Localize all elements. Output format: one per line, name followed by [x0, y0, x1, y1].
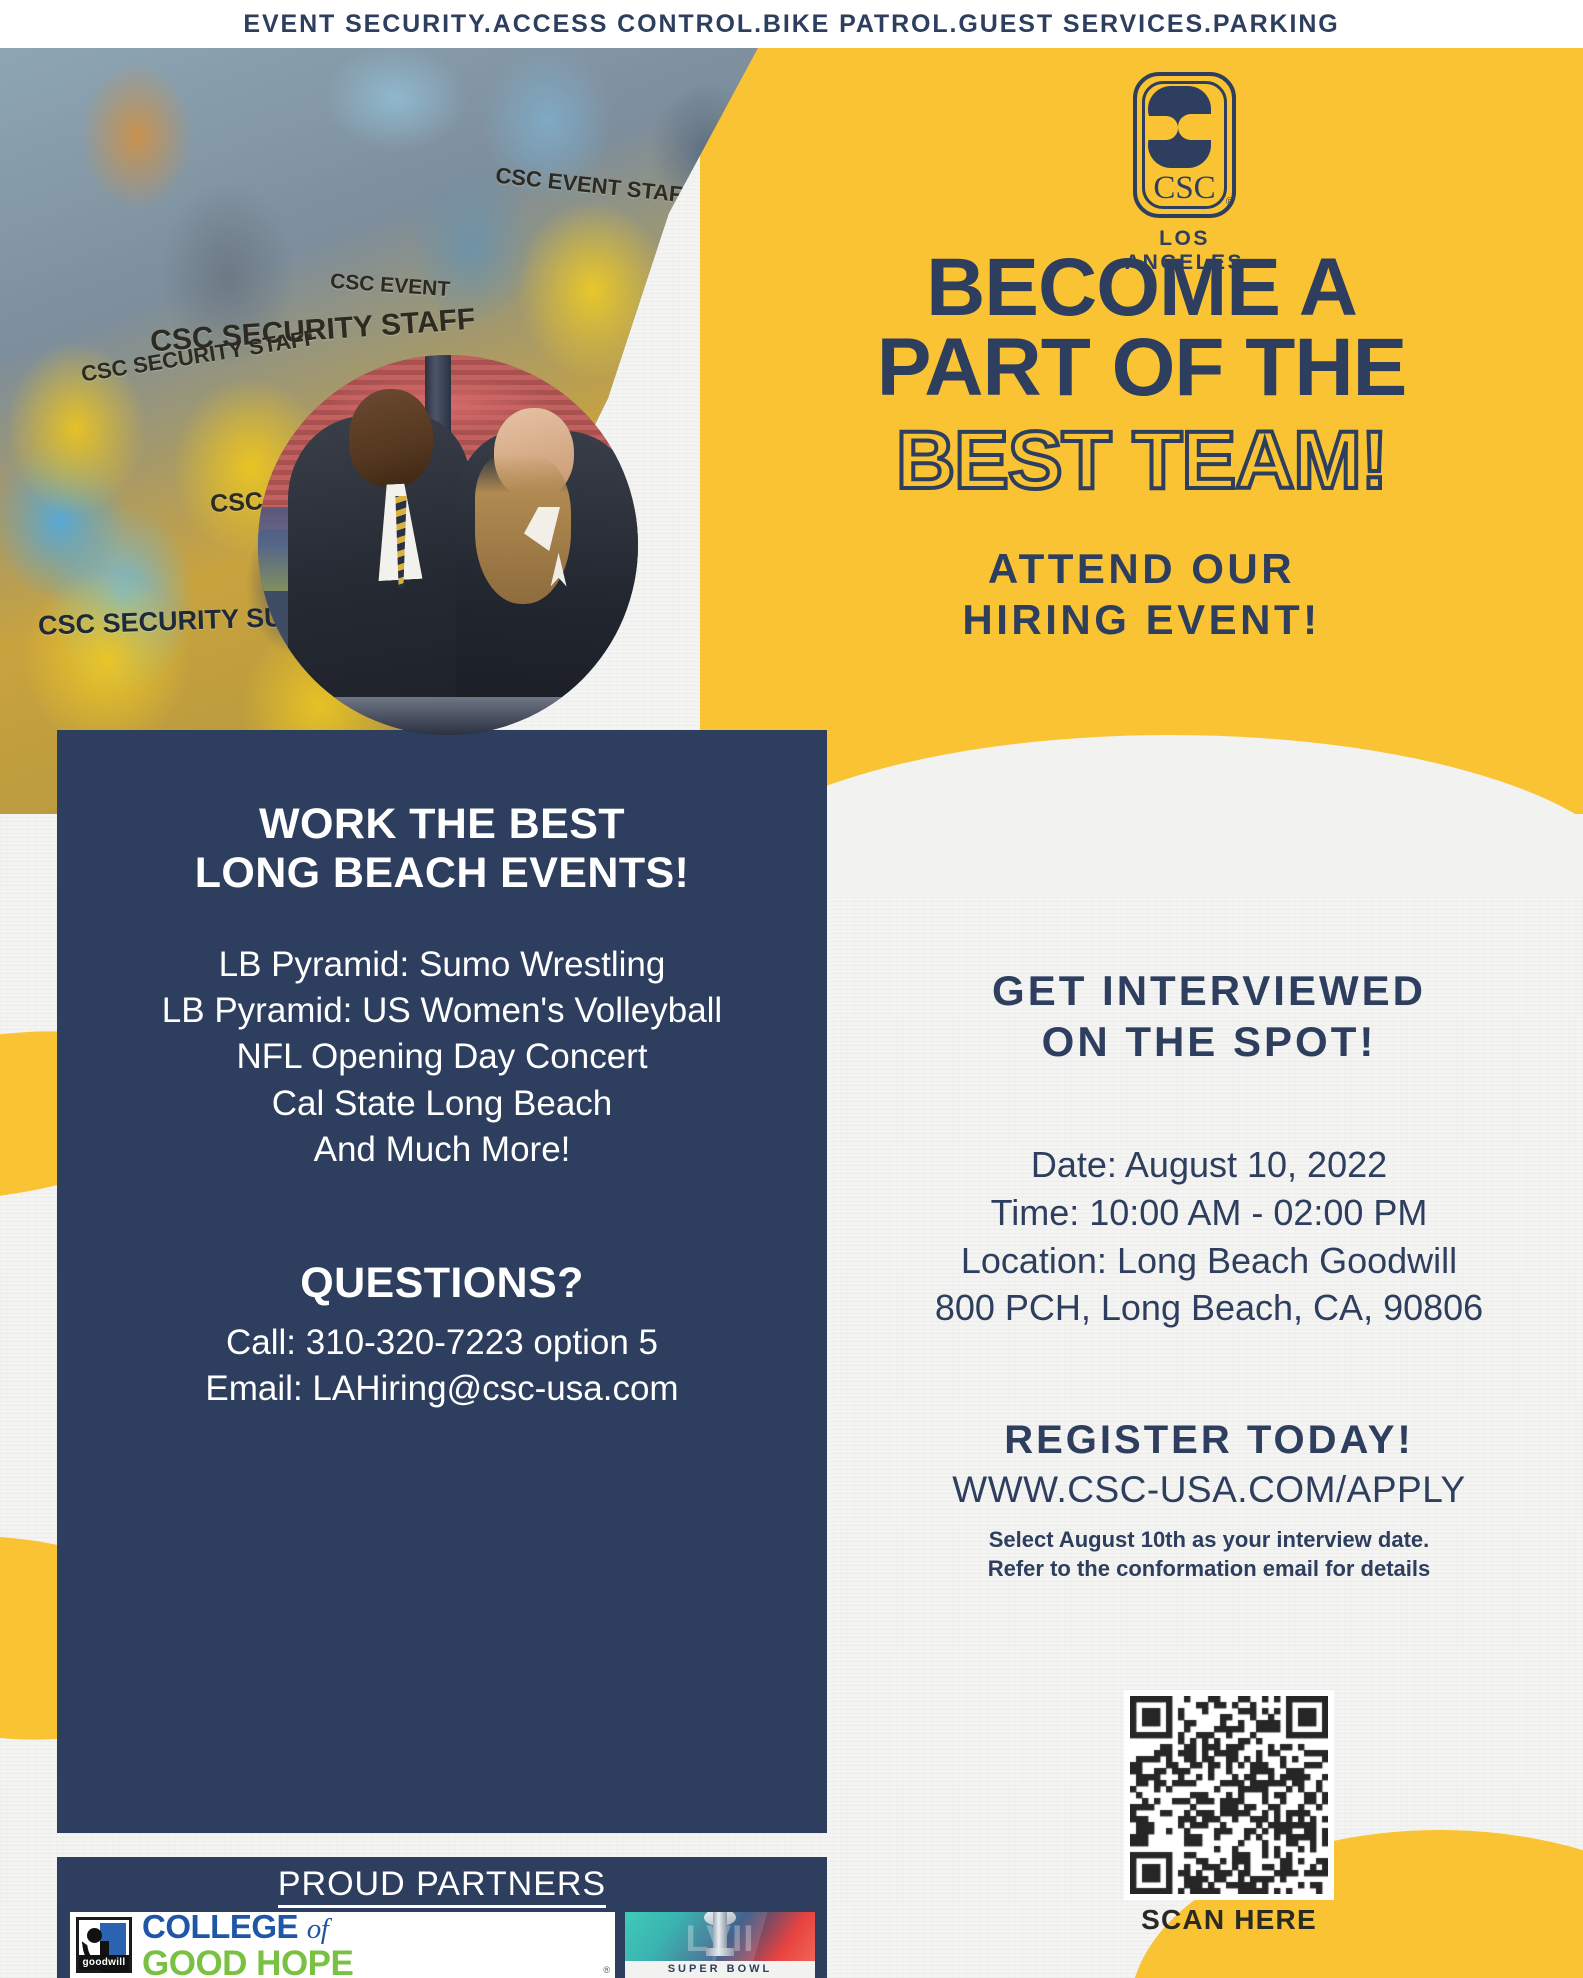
- events-panel-content: WORK THE BEST LONG BEACH EVENTS! LB Pyra…: [57, 730, 827, 1833]
- phone-line[interactable]: Call: 310-320-7223 option 5: [57, 1320, 827, 1366]
- services-banner: EVENT SECURITY.ACCESS CONTROL.BIKE PATRO…: [0, 0, 1583, 48]
- list-item: Cal State Long Beach: [57, 1081, 827, 1127]
- events-panel-title-line-1: WORK THE BEST: [57, 800, 827, 849]
- list-item: And Much More!: [57, 1127, 827, 1173]
- partners-heading: PROUD PARTNERS: [57, 1865, 827, 1904]
- register-heading: REGISTER TODAY!: [835, 1418, 1583, 1463]
- csc-s-curve-icon: [1148, 86, 1211, 168]
- college-word: COLLEGE: [142, 1908, 298, 1945]
- goodwill-registered-icon: ®: [603, 1965, 610, 1975]
- flyer-root: CSC SECURITY STAFF CSC EVENT STAFF CSC E…: [0, 0, 1583, 1978]
- partners-heading-text: PROUD PARTNERS: [278, 1865, 606, 1908]
- event-address: 800 PCH, Long Beach, CA, 90806: [835, 1284, 1583, 1332]
- good-hope-line: GOOD HOPE: [142, 1946, 609, 1978]
- events-panel-title: WORK THE BEST LONG BEACH EVENTS!: [57, 800, 827, 898]
- hero-headline: BECOME A PART OF THE BEST TEAM! ATTEND O…: [700, 248, 1583, 645]
- portrait-photo-circle: [258, 355, 638, 735]
- qr-section: SCAN HERE: [1103, 1690, 1355, 1936]
- event-date: Date: August 10, 2022: [835, 1141, 1583, 1189]
- list-item: LB Pyramid: Sumo Wrestling: [57, 942, 827, 988]
- hero-subhead-line-1: ATTEND OUR: [700, 543, 1583, 594]
- goodwill-wordmark: goodwill: [79, 1955, 129, 1970]
- hero-subhead: ATTEND OUR HIRING EVENT!: [700, 543, 1583, 645]
- services-banner-text: EVENT SECURITY.ACCESS CONTROL.BIKE PATRO…: [243, 10, 1339, 39]
- registered-mark-icon: ®: [1226, 196, 1234, 208]
- list-item: NFL Opening Day Concert: [57, 1034, 827, 1080]
- events-list: LB Pyramid: Sumo Wrestling LB Pyramid: U…: [57, 942, 827, 1173]
- goodwill-smiley-g-icon: goodwill: [76, 1917, 132, 1973]
- super-bowl-label: SUPER BOWL: [625, 1961, 815, 1978]
- register-note-line-1: Select August 10th as your interview dat…: [835, 1525, 1583, 1554]
- headline-line-1: BECOME A: [700, 248, 1583, 328]
- man-head: [349, 389, 433, 487]
- super-bowl-lvii-logo: LVII SUPER BOWL: [625, 1912, 815, 1978]
- questions-heading: QUESTIONS?: [57, 1259, 827, 1308]
- qr-code-icon[interactable]: [1124, 1690, 1334, 1900]
- register-note: Select August 10th as your interview dat…: [835, 1525, 1583, 1584]
- event-location: Location: Long Beach Goodwill: [835, 1237, 1583, 1285]
- goodwill-college-text: COLLEGE of GOOD HOPE: [132, 1910, 609, 1978]
- woman-hair-front: [475, 454, 571, 604]
- interview-info-column: GET INTERVIEWED ON THE SPOT! Date: Augus…: [835, 965, 1583, 1583]
- list-item: LB Pyramid: US Women's Volleyball: [57, 988, 827, 1034]
- apply-url-link[interactable]: WWW.CSC-USA.COM/APPLY: [835, 1469, 1583, 1511]
- email-line[interactable]: Email: LAHiring@csc-usa.com: [57, 1366, 827, 1412]
- goodwill-college-logo: goodwill COLLEGE of GOOD HOPE ®: [70, 1912, 615, 1978]
- csc-logo-text: CSC: [1137, 170, 1232, 207]
- hero-subhead-line-2: HIRING EVENT!: [700, 594, 1583, 645]
- csc-logo: CSC ® LOS ANGELES: [1097, 72, 1272, 232]
- scan-here-label: SCAN HERE: [1103, 1904, 1355, 1936]
- event-details: Date: August 10, 2022 Time: 10:00 AM - 0…: [835, 1141, 1583, 1331]
- of-word: of: [307, 1913, 329, 1945]
- register-note-line-2: Refer to the conformation email for deta…: [835, 1554, 1583, 1583]
- csc-logo-mark: CSC ®: [1133, 72, 1236, 218]
- college-of-line: COLLEGE of: [142, 1910, 609, 1944]
- contact-block: Call: 310-320-7223 option 5 Email: LAHir…: [57, 1320, 827, 1412]
- interview-heading-line-2: ON THE SPOT!: [835, 1016, 1583, 1067]
- partner-logos: goodwill COLLEGE of GOOD HOPE ® LVII SUP…: [70, 1912, 815, 1978]
- event-time: Time: 10:00 AM - 02:00 PM: [835, 1189, 1583, 1237]
- headline-line-3-outlined: BEST TEAM!: [700, 415, 1583, 507]
- headline-line-2: PART OF THE: [700, 328, 1583, 408]
- events-panel-title-line-2: LONG BEACH EVENTS!: [57, 849, 827, 898]
- interview-heading: GET INTERVIEWED ON THE SPOT!: [835, 965, 1583, 1067]
- interview-heading-line-1: GET INTERVIEWED: [835, 965, 1583, 1016]
